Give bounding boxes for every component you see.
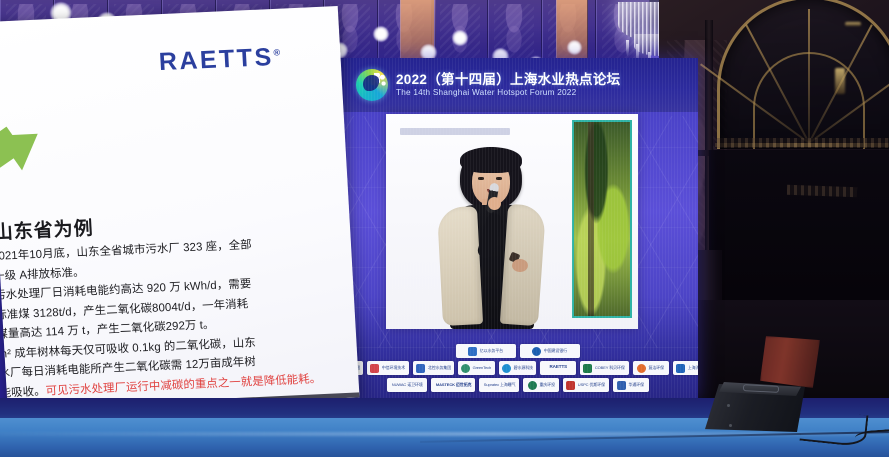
forum-banner: 2022（第十四届）上海水业热点论坛 The 14th Shanghai Wat…	[338, 58, 698, 112]
sponsor-logo: 复洁环保	[633, 361, 669, 375]
sponsor-row-2: 上海城投集团 中信环境技术 北控水务集团 GreenTech 碧水源科技	[338, 361, 698, 375]
slide-text-bar	[400, 128, 510, 135]
presenter-hand-second	[512, 259, 528, 272]
main-led-screen: 2022（第十四届）上海水业热点论坛 The 14th Shanghai Wat…	[338, 58, 698, 400]
sponsor-logo: 上海济邦咨询	[673, 361, 698, 375]
projected-slide	[386, 114, 638, 329]
sponsor-logo: 华通环保	[613, 378, 649, 392]
female-presenter	[432, 139, 552, 329]
conference-stage-photo: 2022（第十四届）上海水业热点论坛 The 14th Shanghai Wat…	[0, 0, 889, 457]
sponsor-logo: 北控水务集团	[413, 361, 455, 375]
sponsor-logo: NUWAC 诺卫环境	[387, 378, 427, 392]
sponsor-row-1: 亿以水务平台 中国建设银行	[456, 344, 580, 358]
slide-body-text: 截止2021年10月底，山东全省城市污水厂 323 座，全部 执行一级 A排放标…	[0, 233, 337, 406]
forum-title-en: The 14th Shanghai Water Hotspot Forum 20…	[396, 89, 620, 98]
green-up-right-arrow-icon	[0, 119, 53, 215]
slide-heading: 以山东省为例	[0, 213, 94, 245]
sponsor-logo: MASTECK 迈世拓克	[431, 378, 475, 392]
green-forest-photo	[572, 120, 632, 318]
sponsor-logo: Supratec 上海曝气	[479, 378, 519, 392]
sponsor-logo: 亿以水务平台	[456, 344, 516, 358]
shanghai-water-forum-logo	[356, 69, 388, 101]
sponsor-logo: 中信环境技术	[367, 361, 409, 375]
left-projection-screen: RAETTS® 以山东省为例 截止2021年10月底，山东全省城市污水厂 323…	[0, 6, 360, 413]
sponsor-logo: USPC 优斯环保	[563, 378, 609, 392]
presenter-shawl-left	[437, 206, 483, 326]
stage-monitor-speaker	[705, 378, 813, 434]
sponsor-logo: 中国建设银行	[520, 344, 580, 358]
sponsor-logo: 碧水源科技	[499, 361, 536, 375]
sponsor-logo: 重庆环投	[523, 378, 559, 392]
forum-title-cn: 2022（第十四届）上海水业热点论坛	[396, 73, 620, 87]
sponsor-logo-wall: 亿以水务平台 中国建设银行 上海城投集团 中信环境技术 北	[338, 344, 698, 392]
sponsor-logo: COBEY 科贝环保	[580, 361, 629, 375]
sponsor-row-3: NUWAC 诺卫环境 MASTECK 迈世拓克 Supratec 上海曝气 重庆…	[387, 378, 649, 392]
presenter-hand	[488, 197, 501, 210]
sponsor-logo: GreenTech	[458, 361, 495, 375]
raetts-sponsor-logo: RAETTS	[540, 361, 576, 375]
raetts-brand-logo: RAETTS®	[158, 43, 281, 77]
